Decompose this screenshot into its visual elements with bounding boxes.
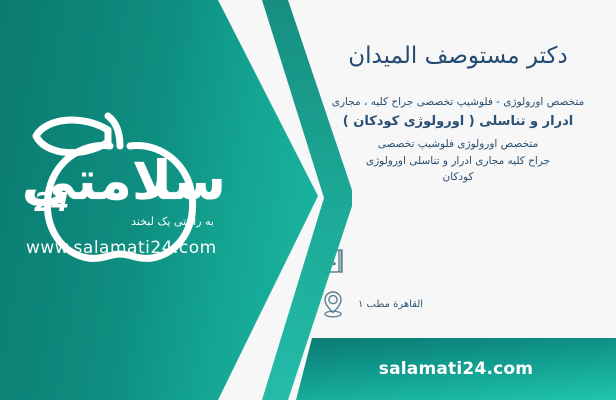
specialties-block: متخصص اورولوژی - فلوشیپ تخصصی جراح کلیه …	[314, 94, 602, 185]
specialty-line-5: کودکان	[314, 169, 602, 185]
footer-website: salamati24.com	[379, 359, 533, 379]
specialty-line-3: متخصص اورولوژی فلوشیپ تخصصی	[314, 136, 602, 152]
logo-tagline: به راحتی یک لبخند	[131, 216, 214, 227]
brand-logo: سلامتی 24 به راحتی یک لبخند www.salamati…	[12, 112, 244, 272]
specialty-line-2: ادرار و تناسلی ( اورولوژی کودکان )	[314, 112, 602, 132]
specialty-line-4: جراح کلیه مجاری ادرار و تناسلی اورولوژی	[314, 153, 602, 169]
specialty-line-1: متخصص اورولوژی - فلوشیپ تخصصی جراح کلیه …	[314, 94, 602, 110]
logo-website: www.salamati24.com	[26, 240, 217, 257]
logo-number: 24	[34, 190, 68, 216]
business-card: سلامتی 24 به راحتی یک لبخند www.salamati…	[0, 0, 616, 400]
doctor-name-title: دکتر مستوصف الميدان	[300, 0, 616, 72]
footer-bar[interactable]: salamati24.com	[296, 338, 616, 400]
